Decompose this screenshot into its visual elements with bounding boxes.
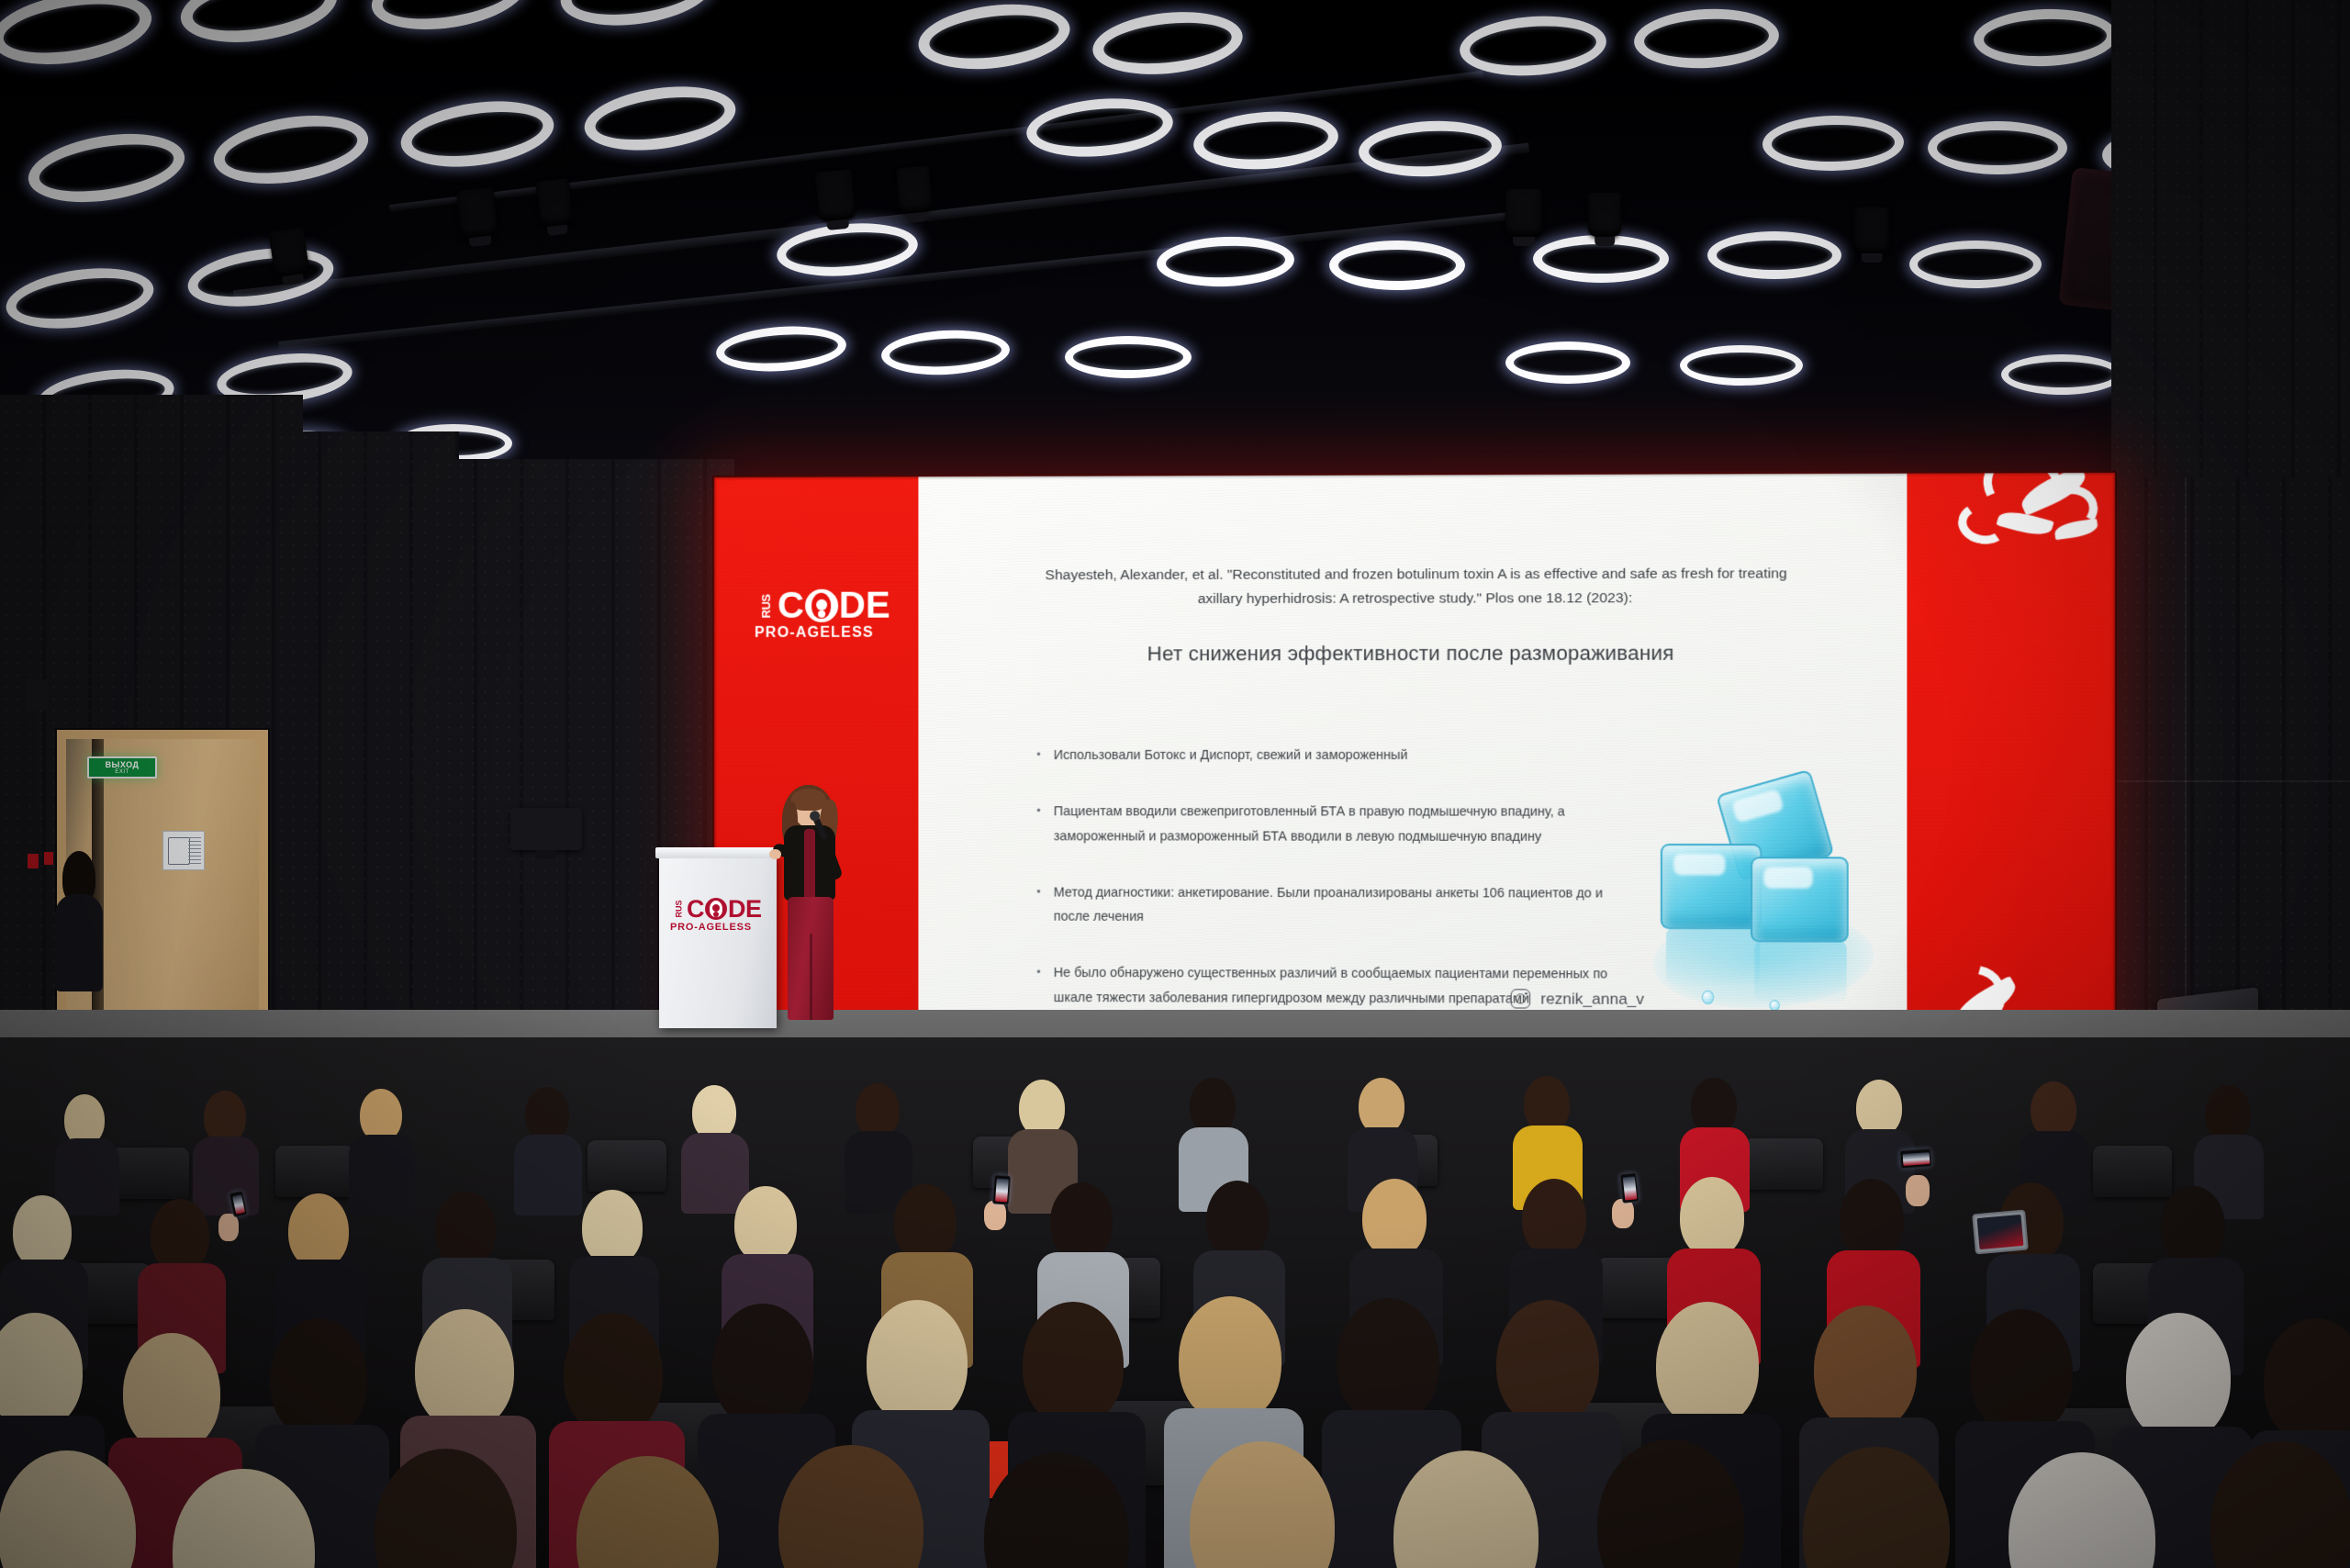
hair [1023, 1302, 1124, 1427]
seat[interactable] [587, 1140, 666, 1192]
bullet-marker: • [1036, 744, 1041, 767]
presenter-trousers [788, 897, 834, 1020]
hair [734, 1186, 797, 1263]
hair [564, 1313, 663, 1436]
ruscode-logo: RUS CDE PRO-AGELESS [755, 589, 890, 642]
smartphone[interactable] [992, 1174, 1011, 1204]
ring-light [1632, 6, 1780, 72]
hair [270, 1318, 367, 1439]
torso [193, 1137, 259, 1215]
ring-light [1090, 6, 1246, 82]
hand [1906, 1175, 1930, 1206]
hair [2126, 1313, 2231, 1441]
torso [55, 894, 103, 991]
ice-cubes-illustration [1646, 771, 1881, 1023]
seat[interactable] [275, 1146, 354, 1197]
torso [349, 1135, 415, 1215]
hair-front [791, 789, 826, 811]
podium-logo-wordmark: RUS CDE [670, 898, 766, 920]
hair [1840, 1179, 1904, 1260]
social-handle: reznik_anna_v [1511, 989, 1644, 1009]
stage-lamp [456, 187, 498, 239]
hand [984, 1201, 1006, 1230]
hair [1179, 1296, 1281, 1423]
exit-sign: ВЫХОД EXIT [87, 756, 157, 778]
ring-light [580, 78, 740, 159]
hair [2031, 1081, 2076, 1138]
logo-code-text: CDE [778, 589, 890, 622]
led-screen: RUS CDE PRO-AGELESS Shayesteh, Alexander… [714, 473, 2115, 1051]
stage-lamp [535, 178, 573, 227]
filigree-ornament [1907, 473, 2115, 474]
seat[interactable] [1744, 1138, 1823, 1190]
ring-light [1329, 241, 1465, 290]
presenter [767, 776, 850, 1031]
torso [681, 1133, 749, 1214]
stage-lamp [1588, 193, 1621, 237]
torso [55, 1138, 119, 1215]
hair [1362, 1179, 1427, 1258]
stage-lamp [269, 228, 310, 278]
screen-right-red-band [1907, 473, 2115, 1051]
hand [218, 1214, 239, 1241]
ring-light [914, 0, 1073, 77]
acoustic-texture [2111, 0, 2350, 514]
water-droplet [1702, 991, 1714, 1004]
logo-tagline: PRO-AGELESS [755, 625, 890, 642]
ring-light [1928, 121, 2067, 174]
hair [123, 1333, 220, 1452]
torso [514, 1135, 582, 1215]
hair [1856, 1080, 1902, 1137]
stage-lamp [1854, 207, 1889, 253]
ring-light [185, 240, 338, 315]
presentation-slide: Shayesteh, Alexander, et al. "Reconstitu… [918, 474, 1907, 1051]
smartphone-landscape[interactable] [1899, 1148, 1931, 1169]
hair [435, 1192, 496, 1267]
evacuation-plan-sign [162, 831, 205, 870]
stage-confidence-monitor [510, 808, 582, 850]
hair [1496, 1300, 1599, 1427]
ring-light [1065, 336, 1192, 378]
social-handle-text: reznik_anna_v [1540, 990, 1644, 1009]
bullet-marker: • [1036, 880, 1041, 929]
podium-logo-rus: RUS [675, 901, 684, 918]
slide-citation: Shayesteh, Alexander, et al. "Reconstitu… [1029, 562, 1803, 610]
ring-light [714, 322, 847, 375]
ring-light [24, 124, 190, 212]
hair [415, 1309, 514, 1430]
ring-light [880, 327, 1011, 377]
hair [1359, 1078, 1404, 1135]
bullet-text: Пациентам вводили свежеприготовленный БТ… [1054, 800, 1632, 848]
podium-logo: RUS CDE PRO-AGELESS [670, 898, 766, 933]
hand [1612, 1199, 1634, 1228]
stage-lamp [896, 166, 933, 215]
ring-light [2, 260, 157, 337]
ice-cube [1661, 844, 1762, 929]
logo-emblem-icon [805, 589, 838, 622]
podium-top [655, 847, 780, 858]
hair [1656, 1302, 1759, 1428]
ring-light [175, 0, 341, 52]
ring-light [1707, 231, 1841, 279]
ring-light [1505, 342, 1630, 384]
hand-left [769, 849, 781, 859]
hair [1522, 1179, 1586, 1258]
hair [1337, 1298, 1439, 1425]
hair [2205, 1085, 2251, 1142]
hair [1019, 1080, 1065, 1137]
hair [856, 1083, 900, 1138]
podium: RUS CDE PRO-AGELESS [659, 854, 777, 1028]
plan-legend [188, 837, 201, 865]
hair [894, 1184, 957, 1261]
hair [1190, 1078, 1236, 1135]
ring-light [1358, 118, 1504, 180]
instagram-icon [1511, 989, 1530, 1008]
exit-sign-main: ВЫХОД [106, 761, 140, 769]
podium-logo-tagline: PRO-AGELESS [670, 922, 766, 933]
hair [2161, 1186, 2225, 1267]
stage-lamp [1505, 189, 1542, 237]
ring-light [1156, 234, 1295, 288]
stage-lamp [815, 169, 856, 221]
ring-light [2001, 354, 2122, 395]
bullet-marker: • [1036, 800, 1041, 848]
ring-light [1192, 107, 1340, 174]
bullet-text: Метод диагностики: анкетирование. Были п… [1054, 880, 1632, 930]
ring-light [367, 0, 532, 39]
bullet-item: • Пациентам вводили свежеприготовленный … [1036, 800, 1632, 848]
audience-area [0, 1037, 2350, 1568]
hair [13, 1195, 72, 1269]
logo-rus-text: RUS [759, 594, 773, 618]
bullet-text: Использовали Ботокс и Диспорт, свежий и … [1054, 744, 1407, 767]
wall-speaker [26, 679, 48, 711]
hair [1206, 1181, 1269, 1260]
hair [1524, 1076, 1570, 1133]
hair [867, 1300, 968, 1425]
hair [1680, 1177, 1744, 1258]
wall-right-upper [2111, 0, 2350, 514]
hair [712, 1304, 813, 1428]
ice-cube [1751, 857, 1849, 942]
slide-title: Нет снижения эффективности после размора… [992, 641, 1831, 666]
hair [1050, 1182, 1113, 1261]
ring-light [1762, 115, 1904, 173]
ring-light [1909, 241, 2042, 288]
seat[interactable] [110, 1148, 189, 1199]
ring-light [397, 93, 558, 176]
hair [692, 1085, 736, 1140]
hair [1691, 1078, 1737, 1135]
podium-logo-emblem-icon [705, 898, 727, 920]
hair [582, 1190, 643, 1265]
fire-alarm-panel [28, 854, 39, 868]
standing-attendee [51, 854, 106, 991]
hair [288, 1193, 349, 1269]
plan-diagram [168, 837, 190, 865]
smartphone[interactable] [1619, 1172, 1639, 1204]
conference-hall-scene: ВЫХОД EXIT RUS CDE [0, 0, 2350, 1568]
podium-logo-code: CDE [687, 898, 762, 920]
ring-light [556, 0, 718, 34]
bullet-item: • Метод диагностики: анкетирование. Были… [1036, 880, 1632, 930]
tablet-device[interactable] [1972, 1210, 2029, 1255]
ring-light [1973, 6, 2118, 68]
cube-reflection [1754, 940, 1846, 1002]
hair [525, 1087, 569, 1142]
ring-light [209, 106, 374, 194]
exit-sign-sub: EXIT [115, 769, 129, 775]
logo-wordmark: RUS CDE [755, 589, 890, 622]
cube-reflection [1666, 927, 1760, 985]
hair [1970, 1309, 2073, 1436]
ring-light [1024, 93, 1176, 162]
ring-light [1680, 345, 1803, 386]
bullet-item: • Использовали Ботокс и Диспорт, свежий … [1036, 744, 1632, 768]
ring-light [0, 0, 157, 74]
hair [151, 1199, 209, 1272]
seat[interactable] [2093, 1146, 2172, 1197]
hair [1814, 1305, 1917, 1432]
